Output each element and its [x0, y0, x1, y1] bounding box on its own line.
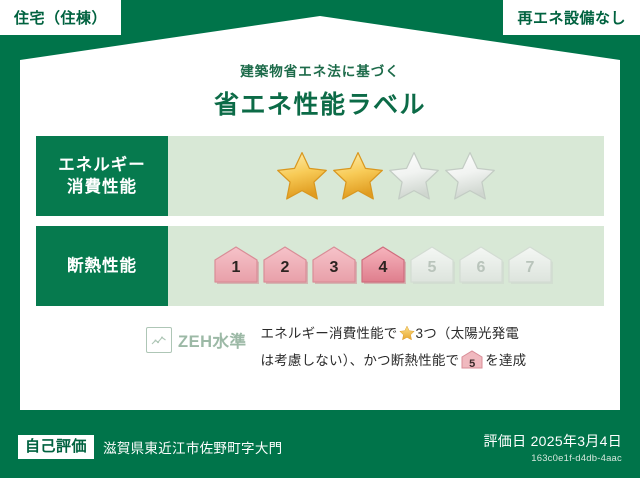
property-address: 滋賀県東近江市佐野町字大門: [103, 437, 282, 457]
note-line1-before: エネルギー消費性能で: [261, 326, 398, 341]
footer-bar: 自己評価 滋賀県東近江市佐野町字大門 評価日 2025年3月4日 163c0e1…: [0, 416, 640, 478]
house-chip-icon: [360, 246, 406, 286]
house-chip-icon: [311, 246, 357, 286]
insulation-chip-7: 7: [507, 246, 553, 286]
zeh-house-icon: [146, 327, 172, 353]
zeh-label: ZEH水準: [178, 328, 247, 352]
page-title: 建築物省エネ法に基づく 省エネ性能ラベル: [20, 60, 620, 121]
row-label-line1: エネルギー: [58, 154, 146, 176]
row-energy-consumption: エネルギー 消費性能: [36, 136, 604, 216]
house-chip-icon: [262, 246, 308, 286]
row-label-line2: 消費性能: [67, 176, 137, 198]
evaluation-date-label: 評価日: [483, 433, 526, 449]
zeh-note-section: ZEH水準 エネルギー消費性能で3つ（太陽光発電 は考慮しない）、かつ断熱性能で…: [36, 318, 604, 372]
insulation-chip-5: 5: [409, 246, 455, 286]
house-chip-icon: [507, 246, 553, 286]
row-insulation-label: 断熱性能: [36, 226, 168, 306]
tab-renewable-energy-label: 再エネ設備なし: [517, 7, 626, 28]
footer-left: 自己評価 滋賀県東近江市佐野町字大門: [18, 435, 282, 458]
star-rating: [168, 136, 604, 216]
evaluation-date: 評価日 2025年3月4日: [483, 431, 622, 451]
zeh-standard: ZEH水準: [146, 318, 247, 353]
star-empty-icon: [387, 149, 441, 203]
metric-rows: エネルギー 消費性能 断熱性能 1234567: [36, 136, 604, 316]
label-body: 建築物省エネ法に基づく 省エネ性能ラベル エネルギー 消費性能 断熱性能 123…: [20, 36, 620, 410]
insulation-chip-1: 1: [213, 246, 259, 286]
note-line1-after: 3つ（太陽光発電: [416, 326, 520, 341]
inline-insulation-chip: 5: [461, 350, 483, 369]
achievement-note: エネルギー消費性能で3つ（太陽光発電 は考慮しない）、かつ断熱性能で5を達成: [261, 318, 527, 372]
house-chip-icon: [213, 246, 259, 286]
row-energy-consumption-label: エネルギー 消費性能: [36, 136, 168, 216]
document-id: 163c0e1f-d4db-4aac: [483, 453, 622, 464]
house-chip-icon: [409, 246, 455, 286]
tab-building-type: 住宅（住棟）: [0, 0, 121, 35]
insulation-chip-3: 3: [311, 246, 357, 286]
note-line2-after: を達成: [485, 353, 526, 368]
inline-star-icon: [399, 325, 415, 349]
insulation-chip-4: 4: [360, 246, 406, 286]
status-badge: 自己評価: [18, 435, 94, 458]
row-insulation: 断熱性能 1234567: [36, 226, 604, 306]
tab-renewable-energy: 再エネ設備なし: [503, 0, 640, 35]
star-filled-icon: [275, 149, 329, 203]
row-label-line1: 断熱性能: [67, 255, 137, 277]
house-chip-icon: [458, 246, 504, 286]
note-line2-before: は考慮しない）、かつ断熱性能で: [261, 353, 460, 368]
energy-performance-label-card: 住宅（住棟） 再エネ設備なし 建築物省エネ法に基づく 省エネ性能ラベル エネルギ…: [0, 0, 640, 478]
insulation-chip-2: 2: [262, 246, 308, 286]
insulation-chip-6: 6: [458, 246, 504, 286]
evaluation-date-value: 2025年3月4日: [531, 433, 622, 449]
footer-right: 評価日 2025年3月4日 163c0e1f-d4db-4aac: [483, 431, 622, 464]
title-main: 省エネ性能ラベル: [20, 85, 620, 121]
tab-building-type-label: 住宅（住棟）: [14, 7, 107, 28]
star-filled-icon: [331, 149, 385, 203]
title-subtitle: 建築物省エネ法に基づく: [20, 60, 620, 80]
insulation-scale: 1234567: [168, 226, 604, 306]
inline-chip-value: 5: [461, 355, 483, 374]
star-empty-icon: [443, 149, 497, 203]
